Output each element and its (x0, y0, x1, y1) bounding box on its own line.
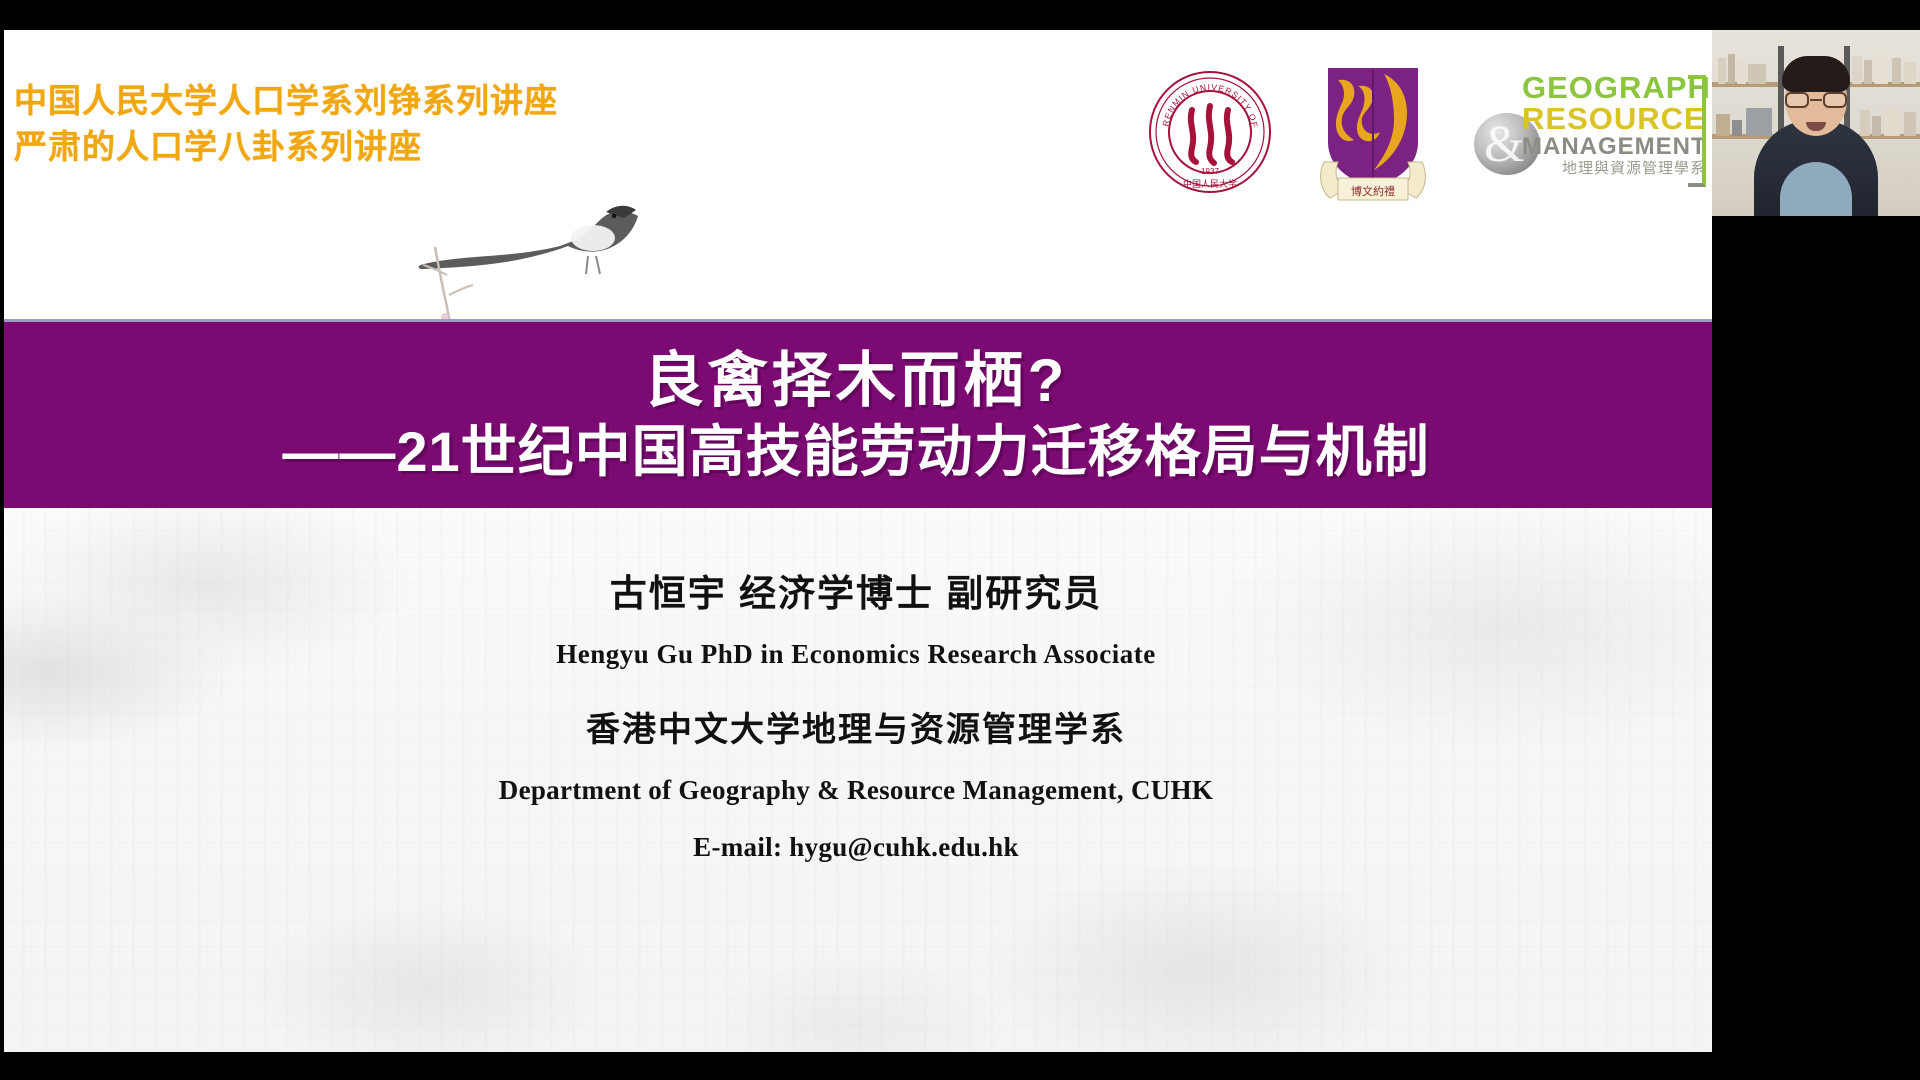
presenter-name-en: Hengyu Gu PhD in Economics Research Asso… (556, 639, 1156, 670)
grm-line-chinese: 地理與資源管理學系 (1522, 160, 1708, 178)
letterbox-left (0, 30, 4, 1052)
letterbox-bottom (0, 1052, 1920, 1080)
presenter-name-cn: 古恒宇 经济学博士 副研究员 (610, 563, 1103, 617)
presenter-email: E-mail: hygu@cuhk.edu.hk (693, 832, 1019, 863)
renmin-university-logo: RENMIN UNIVERSITY OF CHINA 1937 中国人民大学 (1148, 70, 1272, 194)
svg-text:博文約禮: 博文約禮 (1351, 184, 1395, 198)
ampersand-glyph: & (1484, 115, 1524, 174)
institution-logos: RENMIN UNIVERSITY OF CHINA 1937 中国人民大学 (1148, 62, 1706, 202)
slide-subtitle: ——21世纪中国高技能劳动力迁移格局与机制 (282, 418, 1429, 486)
lecture-series-line-1: 中国人民大学人口学系刘铮系列讲座 (14, 78, 558, 124)
presenter-shirt (1780, 162, 1852, 216)
letterbox-right (1712, 216, 1920, 1080)
lecture-series-line-2: 严肃的人口学八卦系列讲座 (14, 124, 558, 170)
presenter-hair (1782, 56, 1850, 92)
svg-text:RENMIN UNIVERSITY OF CHINA: RENMIN UNIVERSITY OF CHINA (1148, 70, 1260, 132)
svg-text:中国人民大学: 中国人民大学 (1183, 178, 1237, 189)
screen-share-view: 中国人民大学人口学系刘铮系列讲座 严肃的人口学八卦系列讲座 (0, 0, 1920, 1080)
presentation-slide: 中国人民大学人口学系刘铮系列讲座 严肃的人口学八卦系列讲座 (0, 30, 1712, 1052)
grm-line-resource: RESOURCE (1522, 103, 1708, 134)
slide-body: 古恒宇 经济学博士 副研究员 Hengyu Gu PhD in Economic… (0, 508, 1712, 1052)
letterbox-top (0, 0, 1920, 30)
geography-resource-management-logo: & GEOGRAPHY RESOURCE MANAGEMENT 地理與資源管理學… (1474, 69, 1706, 195)
presenter-info: 古恒宇 经济学博士 副研究员 Hengyu Gu PhD in Economic… (0, 508, 1712, 1052)
presenter-video-feed[interactable] (1712, 30, 1920, 216)
grm-bracket-decoration (1688, 75, 1706, 187)
glasses-icon (1785, 92, 1847, 108)
grm-line-geography: GEOGRAPHY (1522, 73, 1708, 103)
presenter-dept-en: Department of Geography & Resource Manag… (499, 775, 1213, 806)
presenter-dept-cn: 香港中文大学地理与资源管理学系 (586, 702, 1126, 751)
svg-text:1937: 1937 (1201, 167, 1219, 176)
slide-title-band: 良禽择木而栖? ——21世纪中国高技能劳动力迁移格局与机制 (0, 319, 1712, 508)
lecture-series-heading: 中国人民大学人口学系刘铮系列讲座 严肃的人口学八卦系列讲座 (14, 78, 558, 170)
cuhk-logo: 博文約禮 (1298, 62, 1448, 202)
slide-header: 中国人民大学人口学系刘铮系列讲座 严肃的人口学八卦系列讲座 (0, 30, 1712, 318)
slide-title: 良禽择木而栖? (644, 344, 1069, 418)
grm-line-management: MANAGEMENT (1522, 134, 1708, 160)
